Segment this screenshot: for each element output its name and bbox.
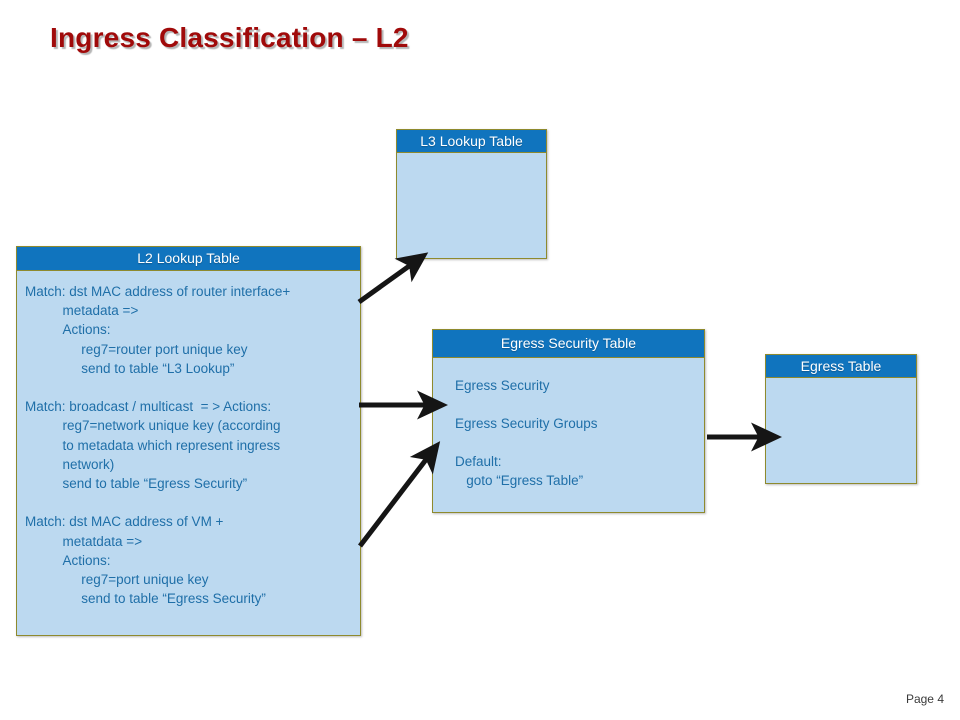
l3-lookup-table-header: L3 Lookup Table: [397, 130, 546, 153]
l2-lookup-table-box[interactable]: L2 Lookup Table Match: dst MAC address o…: [16, 246, 361, 636]
arrow-l2-to-egress-security-vm: [360, 457, 428, 546]
l3-lookup-table-box[interactable]: L3 Lookup Table: [396, 129, 547, 259]
egress-table-body: [766, 378, 916, 478]
arrow-l2-to-l3-lookup: [359, 264, 412, 302]
egress-table-header: Egress Table: [766, 355, 916, 378]
egress-security-table-header: Egress Security Table: [433, 330, 704, 358]
page-number: Page 4: [906, 692, 944, 706]
egress-security-table-body: Egress Security Egress Security Groups D…: [433, 358, 704, 496]
l2-lookup-table-header: L2 Lookup Table: [17, 247, 360, 271]
egress-table-box[interactable]: Egress Table: [765, 354, 917, 484]
l3-lookup-table-body: [397, 153, 546, 253]
egress-security-table-box[interactable]: Egress Security Table Egress Security Eg…: [432, 329, 705, 513]
l2-lookup-table-body: Match: dst MAC address of router interfa…: [17, 271, 360, 614]
page-title: Ingress Classification – L2: [50, 22, 409, 54]
